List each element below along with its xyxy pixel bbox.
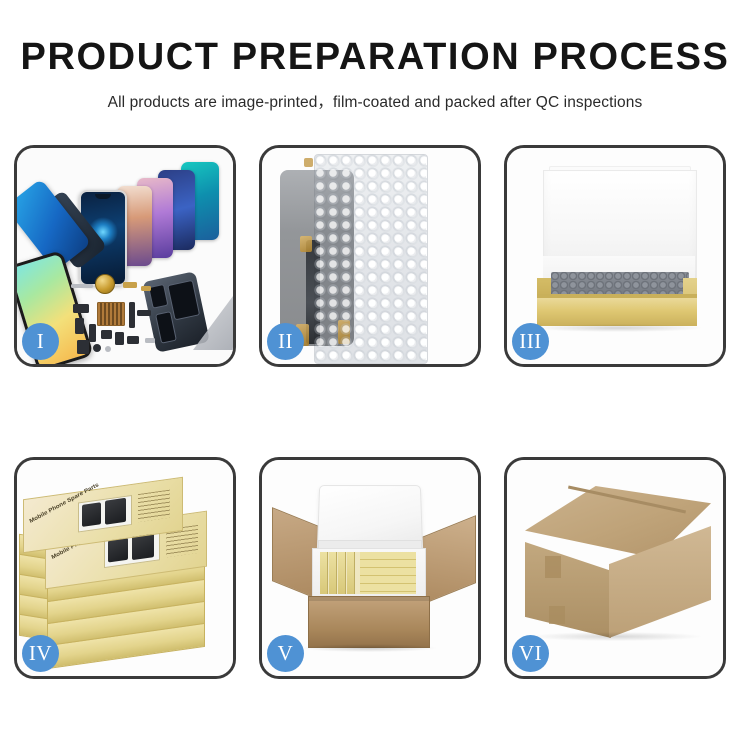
process-step-panel-6[interactable]: VI xyxy=(504,457,726,679)
process-step-panel-1[interactable]: I xyxy=(14,145,236,367)
page-title: PRODUCT PREPARATION PROCESS xyxy=(0,38,750,78)
packed-retail-boxes xyxy=(320,552,416,594)
carton-drop-shadow xyxy=(531,632,701,641)
box-label-screen-1 xyxy=(108,538,128,563)
gold-tab-icon xyxy=(304,158,313,167)
carton-tape-upper xyxy=(545,556,561,578)
process-step-panel-3[interactable]: III xyxy=(504,145,726,367)
step-badge-4: IV xyxy=(22,635,59,672)
carton-front-panel xyxy=(308,596,430,648)
spare-parts-cluster xyxy=(71,280,187,364)
process-step-grid: I II III xyxy=(14,145,736,679)
yellow-box-front xyxy=(537,298,697,326)
process-step-panel-4[interactable]: Mobile Phone Spare Parts Mobile Phone Sp… xyxy=(14,457,236,679)
carton-tape-lower xyxy=(549,606,565,624)
page-header: PRODUCT PREPARATION PROCESS All products… xyxy=(0,0,750,112)
gold-connector-3-icon xyxy=(338,320,350,344)
step-badge-6: VI xyxy=(512,635,549,672)
box-drop-shadow xyxy=(535,324,701,332)
box-label-screen-2 xyxy=(105,498,126,525)
process-step-panel-2[interactable]: II xyxy=(259,145,481,367)
carton-left-face xyxy=(525,542,611,638)
carton-drop-shadow xyxy=(302,644,436,652)
box-label-screen-1 xyxy=(82,502,101,527)
box-label-spec-lines xyxy=(138,490,170,522)
step-badge-1: I xyxy=(22,323,59,360)
page-subtitle: All products are image-printed，film-coat… xyxy=(0,90,750,112)
step-badge-2: II xyxy=(267,323,304,360)
step-badge-3: III xyxy=(512,323,549,360)
process-step-panel-5[interactable]: V xyxy=(259,457,481,679)
gold-connector-1-icon xyxy=(300,236,312,252)
step-badge-5: V xyxy=(267,635,304,672)
